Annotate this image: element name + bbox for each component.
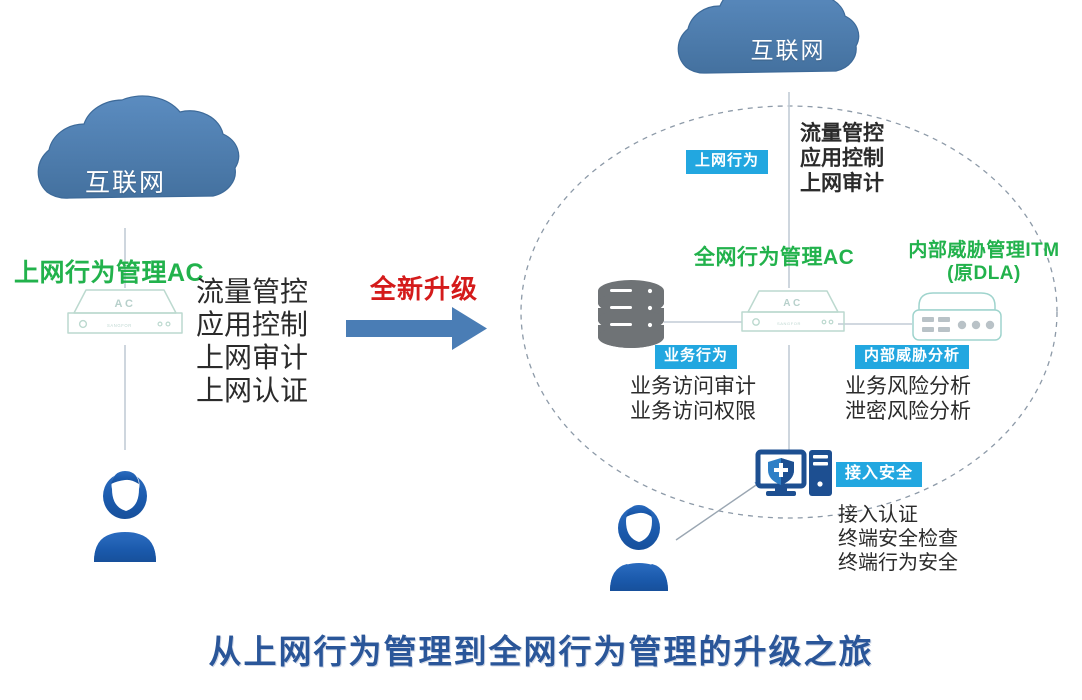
- list-item: 业务访问审计: [630, 375, 756, 400]
- cloud-icon-right: [678, 0, 858, 73]
- left-feature-item: 应用控制: [196, 308, 308, 341]
- cloud-label-right: 互联网: [690, 31, 886, 65]
- itm-title: 内部威胁管理ITM (原DLA): [899, 240, 1069, 286]
- block-internal-threat: 内部威胁分析: [855, 345, 969, 369]
- right-arrow-icon: [346, 307, 487, 350]
- scope-ellipse: [521, 106, 1057, 518]
- ac-appliance-icon-right: [742, 291, 844, 331]
- person-icon-right: [610, 505, 668, 591]
- list-internet-behavior: 流量管控 应用控制 上网审计: [800, 122, 884, 196]
- itm-title-line1: 内部威胁管理ITM: [899, 240, 1069, 263]
- badge-business-behavior[interactable]: 业务行为: [655, 345, 737, 369]
- svg-text:SANGFOR: SANGFOR: [777, 321, 801, 326]
- list-item: 泄密风险分析: [845, 400, 971, 425]
- list-item: 应用控制: [800, 147, 884, 172]
- svg-text:AC: AC: [783, 298, 802, 309]
- list-item: 业务访问权限: [630, 400, 756, 425]
- block-access-security: 接入安全: [836, 462, 922, 487]
- list-item: 流量管控: [800, 122, 884, 147]
- list-item: 接入认证: [838, 503, 958, 527]
- itm-title-line2: (原DLA): [899, 263, 1069, 286]
- upgrade-label: 全新升级: [370, 269, 478, 306]
- list-item: 上网审计: [800, 172, 884, 197]
- list-item: 终端行为安全: [838, 551, 958, 575]
- list-internal-threat: 业务风险分析 泄密风险分析: [845, 375, 971, 425]
- svg-text:AC: AC: [115, 298, 136, 310]
- page-title: 从上网行为管理到全网行为管理的升级之旅: [0, 625, 1082, 673]
- block-business-behavior: 业务行为: [655, 345, 737, 369]
- badge-internet-behavior[interactable]: 上网行为: [686, 150, 768, 174]
- left-feature-list: 流量管控 应用控制 上网审计 上网认证: [196, 275, 308, 407]
- left-feature-item: 上网审计: [196, 341, 308, 374]
- cloud-label-left: 互联网: [28, 163, 223, 199]
- left-feature-item: 流量管控: [196, 275, 308, 308]
- list-item: 业务风险分析: [845, 375, 971, 400]
- person-icon-left: [94, 470, 156, 562]
- itm-appliance-icon: [913, 293, 1001, 340]
- list-access-security: 接入认证 终端安全检查 终端行为安全: [838, 503, 958, 575]
- badge-internal-threat[interactable]: 内部威胁分析: [855, 345, 969, 369]
- database-icon: [598, 280, 664, 348]
- left-feature-item: 上网认证: [196, 374, 308, 407]
- badge-access-security[interactable]: 接入安全: [836, 462, 922, 487]
- ac-appliance-icon-left: [68, 290, 182, 333]
- cloud-icon-left: [38, 96, 238, 198]
- svg-text:SANGFOR: SANGFOR: [107, 323, 132, 328]
- block-internet-behavior: 上网行为: [686, 150, 768, 174]
- list-item: 终端安全检查: [838, 527, 958, 551]
- left-product-title: 上网行为管理AC: [14, 253, 204, 289]
- right-ac-title: 全网行为管理AC: [694, 241, 854, 271]
- pc-shield-icon: [758, 450, 832, 496]
- list-business-behavior: 业务访问审计 业务访问权限: [630, 375, 756, 425]
- diagram-canvas: AC SANGFOR AC SANGFOR: [0, 0, 1082, 700]
